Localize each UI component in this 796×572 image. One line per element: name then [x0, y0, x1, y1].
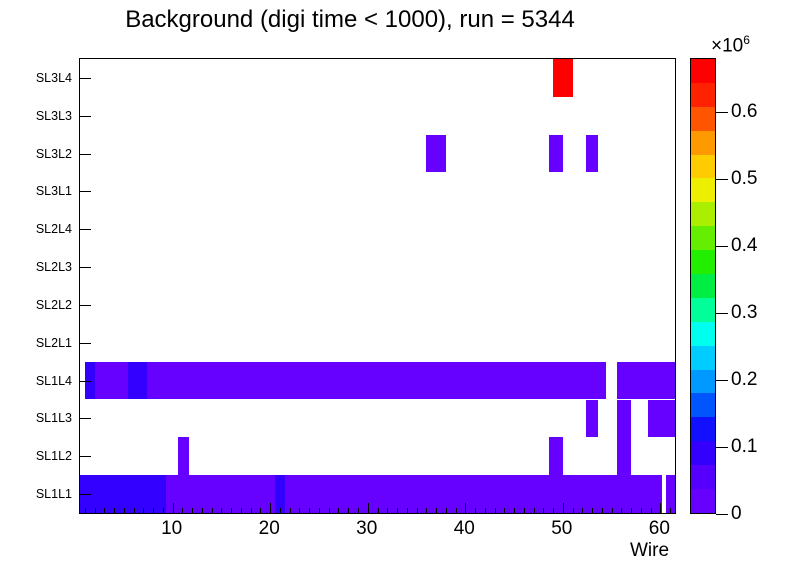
x-axis-tick-minor — [280, 508, 281, 514]
palette-band — [691, 393, 715, 417]
palette-tick-label: 0.1 — [731, 436, 757, 458]
palette-band — [691, 226, 715, 250]
palette-band — [691, 202, 715, 226]
palette-band — [691, 155, 715, 179]
y-axis-tick — [79, 418, 91, 419]
palette-tick — [716, 179, 728, 180]
palette-band — [691, 441, 715, 465]
x-axis-tick-label: 40 — [454, 518, 475, 540]
heatmap-cell — [553, 59, 573, 97]
y-axis-tick — [79, 78, 91, 79]
palette-tick — [716, 380, 728, 381]
x-axis-tick-minor — [221, 508, 222, 514]
plot-frame: SL3L4SL3L3SL3L2SL3L1SL2L4SL2L3SL2L2SL2L1… — [79, 58, 676, 514]
color-palette — [690, 58, 716, 514]
palette-band — [691, 465, 715, 489]
x-axis-tick-minor — [446, 508, 447, 514]
x-axis-tick-major — [660, 503, 661, 514]
heatmap-cell — [549, 437, 563, 475]
palette-tick — [716, 313, 728, 314]
x-axis-tick-minor — [153, 508, 154, 514]
y-axis-label: SL2L4 — [2, 222, 72, 236]
y-axis-label: SL3L2 — [2, 147, 72, 161]
x-axis-tick-minor — [202, 508, 203, 514]
x-axis-tick-minor — [309, 508, 310, 514]
x-axis-tick-minor — [573, 508, 574, 514]
x-axis-tick-minor — [514, 508, 515, 514]
palette-band — [691, 131, 715, 155]
x-axis-tick-minor — [338, 508, 339, 514]
heatmap-cell — [426, 135, 446, 173]
palette-band — [691, 83, 715, 107]
x-axis-tick-minor — [260, 508, 261, 514]
x-axis-tick-label: 10 — [161, 518, 182, 540]
x-axis-tick-minor — [612, 508, 613, 514]
x-axis-tick-minor — [407, 508, 408, 514]
x-axis-tick-minor — [524, 508, 525, 514]
palette-tick-label: 0.6 — [731, 101, 757, 123]
x-axis-tick-minor — [651, 508, 652, 514]
palette-band — [691, 274, 715, 298]
x-axis-tick-minor — [387, 508, 388, 514]
y-axis-tick — [79, 456, 91, 457]
x-axis-tick-minor — [104, 508, 105, 514]
palette-tick — [716, 112, 728, 113]
y-axis-label: SL1L4 — [2, 374, 72, 388]
palette-tick-label: 0.5 — [731, 168, 757, 190]
x-axis-tick-minor — [114, 508, 115, 514]
y-axis-tick — [79, 229, 91, 230]
x-axis-tick-minor — [485, 508, 486, 514]
y-axis-tick — [79, 305, 91, 306]
x-axis-tick-major — [173, 503, 174, 514]
y-axis-label: SL1L2 — [2, 449, 72, 463]
x-axis-tick-minor — [192, 508, 193, 514]
x-axis-tick-major — [368, 503, 369, 514]
palette-tick-label: 0.4 — [731, 235, 757, 257]
y-axis-tick — [79, 343, 91, 344]
y-axis-tick — [79, 494, 91, 495]
x-axis-tick-minor — [504, 508, 505, 514]
x-axis-tick-minor — [241, 508, 242, 514]
heatmap-cell — [147, 362, 605, 400]
heatmap-cell — [586, 400, 598, 438]
x-axis-tick-major — [465, 503, 466, 514]
palette-band — [691, 298, 715, 322]
x-axis-tick-minor — [124, 508, 125, 514]
heatmap-cell — [128, 362, 148, 400]
y-axis-label: SL3L4 — [2, 71, 72, 85]
palette-band — [691, 417, 715, 441]
y-axis-tick — [79, 267, 91, 268]
heatmap-cell — [586, 135, 598, 173]
heatmap-cell — [549, 135, 563, 173]
palette-tick-label: 0 — [731, 503, 742, 525]
y-axis-label: SL2L1 — [2, 336, 72, 350]
x-axis-tick-label: 20 — [259, 518, 280, 540]
heatmap-cell — [617, 400, 631, 438]
palette-tick — [716, 447, 728, 448]
x-axis-tick-minor — [582, 508, 583, 514]
y-axis-tick — [79, 116, 91, 117]
y-axis-label: SL1L1 — [2, 487, 72, 501]
x-axis-tick-minor — [495, 508, 496, 514]
x-axis-tick-minor — [592, 508, 593, 514]
x-axis-tick-minor — [299, 508, 300, 514]
x-axis-tick-minor — [631, 508, 632, 514]
x-axis-tick-minor — [436, 508, 437, 514]
x-axis-tick-minor — [602, 508, 603, 514]
x-axis-tick-minor — [534, 508, 535, 514]
heatmap-cell — [648, 400, 675, 438]
y-axis-tick — [79, 191, 91, 192]
x-axis-tick-label: 50 — [551, 518, 572, 540]
x-axis-tick-label: 30 — [356, 518, 377, 540]
palette-band — [691, 250, 715, 274]
x-axis-tick-minor — [475, 508, 476, 514]
x-axis-tick-minor — [163, 508, 164, 514]
heatmap-cells — [80, 59, 675, 513]
palette-multiplier-base: ×10 — [711, 35, 743, 56]
x-axis-tick-minor — [85, 508, 86, 514]
x-axis-tick-minor — [290, 508, 291, 514]
x-axis-tick-minor — [251, 508, 252, 514]
y-axis-label: SL3L1 — [2, 184, 72, 198]
y-axis-label: SL3L3 — [2, 109, 72, 123]
x-axis-tick-minor — [134, 508, 135, 514]
x-axis-tick-minor — [543, 508, 544, 514]
palette-band — [691, 489, 715, 513]
x-axis-tick-minor — [397, 508, 398, 514]
x-axis-tick-minor — [641, 508, 642, 514]
x-axis-tick-minor — [378, 508, 379, 514]
palette-tick-label: 0.2 — [731, 369, 757, 391]
palette-band — [691, 322, 715, 346]
x-axis-tick-minor — [319, 508, 320, 514]
x-axis-tick-minor — [182, 508, 183, 514]
palette-tick — [716, 514, 728, 515]
palette-band — [691, 346, 715, 370]
x-axis-title: Wire — [630, 540, 669, 562]
x-axis-tick-minor — [329, 508, 330, 514]
x-axis-tick-minor — [231, 508, 232, 514]
x-axis-tick-minor — [212, 508, 213, 514]
x-axis-tick-minor — [621, 508, 622, 514]
x-axis-tick-minor — [358, 508, 359, 514]
root-canvas: Background (digi time < 1000), run = 534… — [0, 0, 796, 572]
x-axis-tick-minor — [553, 508, 554, 514]
x-axis-tick-major — [563, 503, 564, 514]
plot-title: Background (digi time < 1000), run = 534… — [0, 6, 700, 34]
heatmap-cell — [617, 437, 631, 475]
palette-band — [691, 59, 715, 83]
heatmap-cell — [285, 475, 662, 513]
x-axis-tick-minor — [670, 508, 671, 514]
y-axis-label: SL2L3 — [2, 260, 72, 274]
palette-band — [691, 370, 715, 394]
x-axis-tick-minor — [348, 508, 349, 514]
x-axis-tick-major — [270, 503, 271, 514]
palette-band — [691, 107, 715, 131]
x-axis-tick-minor — [426, 508, 427, 514]
x-axis-tick-minor — [417, 508, 418, 514]
palette-multiplier: ×106 — [711, 33, 750, 57]
y-axis-label: SL2L2 — [2, 298, 72, 312]
x-axis-tick-minor — [95, 508, 96, 514]
heatmap-cell — [617, 362, 675, 400]
heatmap-cell — [178, 437, 190, 475]
x-axis-tick-minor — [456, 508, 457, 514]
palette-multiplier-exponent: 6 — [743, 33, 750, 47]
y-axis-label: SL1L3 — [2, 411, 72, 425]
x-axis-tick-minor — [143, 508, 144, 514]
heatmap-cell — [95, 362, 128, 400]
y-axis-tick — [79, 381, 91, 382]
y-axis-tick — [79, 154, 91, 155]
palette-tick-label: 0.3 — [731, 302, 757, 324]
palette-tick — [716, 246, 728, 247]
x-axis-tick-label: 60 — [649, 518, 670, 540]
palette-band — [691, 178, 715, 202]
